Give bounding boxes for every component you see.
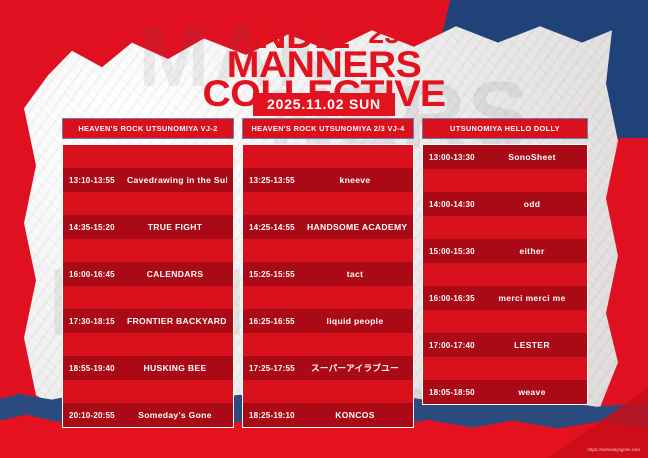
slot-time: 18:55-19:40	[69, 364, 127, 373]
venue-slot-list: 13:00-13:30 SonoSheet 14:00-14:30 odd 15…	[422, 144, 588, 405]
schedule-slot: 18:25-19:10 KONCOS	[243, 403, 413, 427]
slot-time: 13:00-13:30	[429, 153, 487, 162]
slot-spacer	[63, 145, 233, 168]
slot-time: 13:25-13:55	[249, 176, 307, 185]
slot-time: 16:00-16:45	[69, 270, 127, 279]
venue-column: UTSUNOMIYA HELLO DOLLY 13:00-13:30 SonoS…	[422, 118, 588, 405]
schedule-slot: 16:25-16:55 liquid people	[243, 309, 413, 333]
slot-spacer	[423, 263, 587, 286]
venue-column: HEAVEN'S ROCK UTSUNOMIYA VJ-2 13:10-13:5…	[62, 118, 234, 428]
slot-act: スーパーアイラブユー	[307, 362, 407, 374]
schedule-slot: 14:00-14:30 odd	[423, 192, 587, 216]
slot-time: 17:25-17:55	[249, 364, 307, 373]
venue-header: UTSUNOMIYA HELLO DOLLY	[422, 118, 588, 139]
schedule-slot: 13:10-13:55 Cavedrawing in the Subway	[63, 168, 233, 192]
slot-time: 17:00-17:40	[429, 341, 487, 350]
slot-act: CALENDARS	[127, 269, 227, 279]
event-date-badge: 2025.11.02 SUN	[253, 93, 395, 116]
slot-act: liquid people	[307, 316, 407, 326]
schedule-slot: 14:35-15:20 TRUE FIGHT	[63, 215, 233, 239]
slot-act: FRONTIER BACKYARD	[127, 316, 227, 326]
slot-spacer	[423, 310, 587, 333]
slot-spacer	[423, 216, 587, 239]
slot-spacer	[423, 357, 587, 380]
slot-act: LESTER	[487, 340, 581, 350]
slot-time: 15:25-15:55	[249, 270, 307, 279]
slot-time: 18:05-18:50	[429, 388, 487, 397]
venue-header: HEAVEN'S ROCK UTSUNOMIYA 2/3 VJ-4	[242, 118, 414, 139]
schedule-slot: 17:00-17:40 LESTER	[423, 333, 587, 357]
slot-act: KONCOS	[307, 410, 407, 420]
schedule-columns: HEAVEN'S ROCK UTSUNOMIYA VJ-2 13:10-13:5…	[62, 118, 588, 428]
slot-act: SonoSheet	[487, 152, 581, 162]
schedule-slot: 18:05-18:50 weave	[423, 380, 587, 404]
schedule-slot: 18:55-19:40 HUSKING BEE	[63, 356, 233, 380]
venue-column: HEAVEN'S ROCK UTSUNOMIYA 2/3 VJ-4 13:25-…	[242, 118, 414, 428]
slot-act: HUSKING BEE	[127, 363, 227, 373]
slot-spacer	[243, 192, 413, 215]
slot-act: kneeve	[307, 175, 407, 185]
slot-time: 14:00-14:30	[429, 200, 487, 209]
slot-spacer	[243, 239, 413, 262]
schedule-slot: 15:25-15:55 tact	[243, 262, 413, 286]
slot-time: 13:10-13:55	[69, 176, 127, 185]
slot-time: 16:00-16:35	[429, 294, 487, 303]
schedule-slot: 13:00-13:30 SonoSheet	[423, 145, 587, 169]
venue-header: HEAVEN'S ROCK UTSUNOMIYA VJ-2	[62, 118, 234, 139]
slot-spacer	[243, 333, 413, 356]
slot-act: weave	[487, 387, 581, 397]
slot-spacer	[423, 169, 587, 192]
slot-act: merci merci me	[487, 293, 581, 303]
slot-spacer	[63, 239, 233, 262]
schedule-slot: 13:25-13:55 kneeve	[243, 168, 413, 192]
slot-time: 15:00-15:30	[429, 247, 487, 256]
slot-act: tact	[307, 269, 407, 279]
slot-spacer	[243, 286, 413, 309]
schedule-slot: 16:00-16:35 merci merci me	[423, 286, 587, 310]
venue-slot-list: 13:25-13:55 kneeve 14:25-14:55 HANDSOME …	[242, 144, 414, 428]
schedule-slot: 17:30-18:15 FRONTIER BACKYARD	[63, 309, 233, 333]
slot-act: Cavedrawing in the Subway	[127, 175, 227, 185]
slot-spacer	[63, 380, 233, 403]
slot-time: 17:30-18:15	[69, 317, 127, 326]
schedule-slot: 17:25-17:55 スーパーアイラブユー	[243, 356, 413, 380]
presenter-label: Someday's Gone Pre	[0, 4, 648, 14]
slot-time: 16:25-16:55	[249, 317, 307, 326]
venue-slot-list: 13:10-13:55 Cavedrawing in the Subway 14…	[62, 144, 234, 428]
slot-spacer	[243, 380, 413, 403]
slot-time: 14:25-14:55	[249, 223, 307, 232]
slot-time: 14:35-15:20	[69, 223, 127, 232]
slot-spacer	[63, 333, 233, 356]
event-poster: MAN NERS INDIE COLLE 25 Someday's Gone P…	[0, 0, 648, 458]
website-url[interactable]: https://somedaysgone.com	[588, 447, 640, 452]
schedule-slot: 14:25-14:55 HANDSOME ACADEMY	[243, 215, 413, 239]
schedule-slot: 15:00-15:30 either	[423, 239, 587, 263]
slot-act: odd	[487, 199, 581, 209]
slot-time: 20:10-20:55	[69, 411, 127, 420]
slot-act: Someday's Gone	[127, 410, 227, 420]
schedule-slot: 16:00-16:45 CALENDARS	[63, 262, 233, 286]
slot-act: TRUE FIGHT	[127, 222, 227, 232]
schedule-slot: 20:10-20:55 Someday's Gone	[63, 403, 233, 427]
slot-time: 18:25-19:10	[249, 411, 307, 420]
slot-act: HANDSOME ACADEMY	[307, 222, 407, 232]
slot-spacer	[63, 192, 233, 215]
slot-spacer	[243, 145, 413, 168]
slot-act: either	[487, 246, 581, 256]
slot-spacer	[63, 286, 233, 309]
